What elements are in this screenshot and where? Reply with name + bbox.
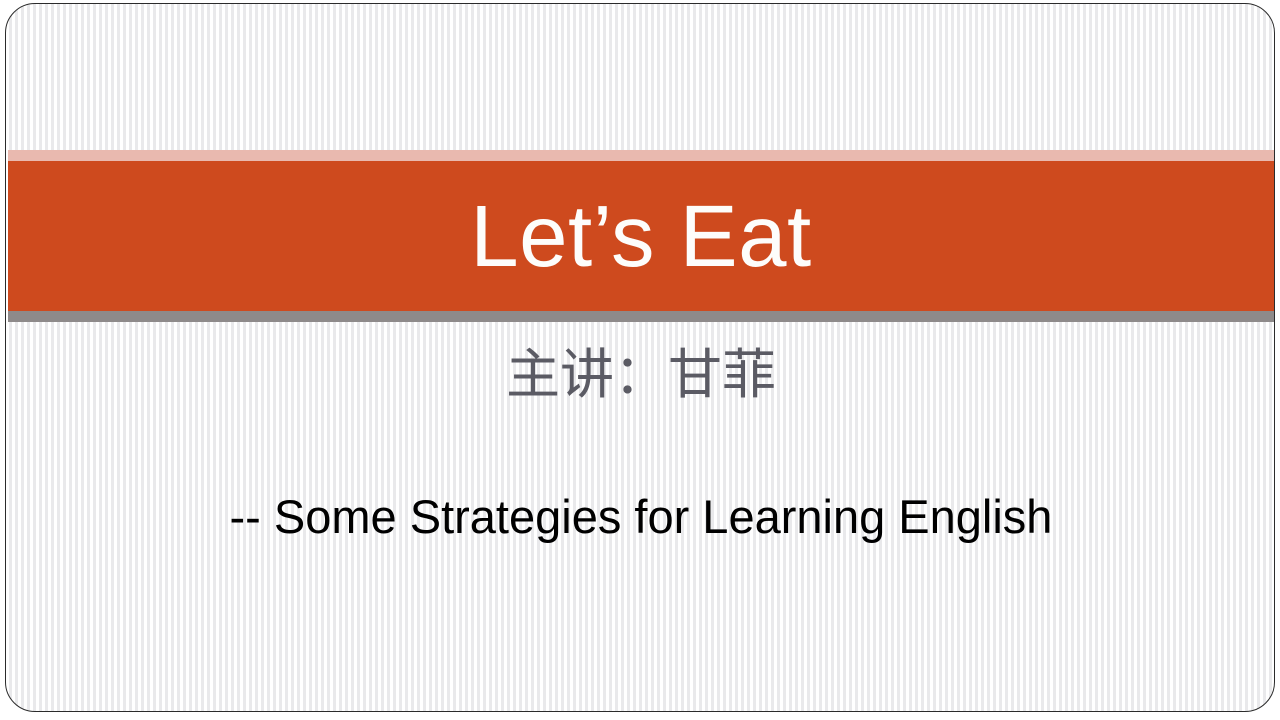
title-banner: Let’s Eat	[8, 150, 1274, 322]
slide-title: Let’s Eat	[8, 161, 1274, 311]
slide-frame: Let’s Eat 主讲：甘菲 -- Some Strategies for L…	[5, 3, 1275, 712]
banner-accent-top-stripe	[8, 150, 1274, 161]
banner-accent-bottom-stripe	[8, 311, 1274, 322]
slide-subtitle-english: -- Some Strategies for Learning English	[6, 489, 1275, 545]
slide-subtitle-chinese: 主讲：甘菲	[6, 343, 1275, 408]
